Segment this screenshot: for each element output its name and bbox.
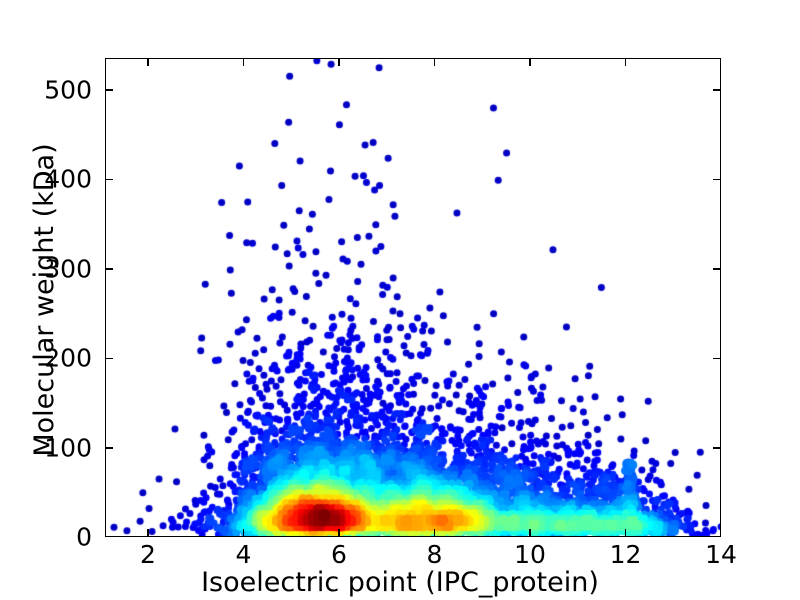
y-tick-300 [106, 268, 113, 270]
x-tick-4 [243, 529, 245, 536]
y-tick-label-400: 400 [44, 167, 92, 192]
x-tick-label-14: 14 [705, 542, 737, 567]
y-tick-right-200 [713, 358, 720, 360]
y-tick-100 [106, 447, 113, 449]
y-tick-label-300: 300 [44, 256, 92, 281]
x-tick-label-6: 6 [331, 542, 347, 567]
y-tick-right-400 [713, 179, 720, 181]
x-axis-label: Isoelectric point (IPC_protein) [0, 568, 800, 598]
y-tick-400 [106, 179, 113, 181]
scatter-points-canvas [106, 59, 721, 537]
x-tick-top-6 [338, 59, 340, 66]
plot-area [105, 58, 721, 537]
x-tick-top-4 [243, 59, 245, 66]
x-tick-top-2 [147, 59, 149, 66]
y-tick-right-500 [713, 89, 720, 91]
x-tick-top-8 [434, 59, 436, 66]
x-tick-10 [529, 529, 531, 536]
y-tick-label-100: 100 [44, 435, 92, 460]
x-tick-6 [338, 529, 340, 536]
x-tick-top-10 [529, 59, 531, 66]
y-tick-right-100 [713, 447, 720, 449]
x-tick-label-2: 2 [140, 542, 156, 567]
y-tick-200 [106, 358, 113, 360]
x-tick-top-12 [625, 59, 627, 66]
y-tick-500 [106, 89, 113, 91]
x-tick-label-10: 10 [514, 542, 546, 567]
y-tick-label-500: 500 [44, 78, 92, 103]
x-tick-8 [434, 529, 436, 536]
y-tick-label-200: 200 [44, 346, 92, 371]
scatter-plot-figure: Molecular weight (kDa) 0 100 200 300 400… [0, 0, 800, 600]
y-tick-0 [106, 536, 113, 537]
x-tick-12 [625, 529, 627, 536]
x-tick-label-8: 8 [427, 542, 443, 567]
x-tick-2 [147, 529, 149, 536]
y-tick-right-300 [713, 268, 720, 270]
y-tick-right-0 [713, 536, 720, 537]
x-tick-label-4: 4 [236, 542, 252, 567]
x-tick-label-12: 12 [610, 542, 642, 567]
y-tick-label-0: 0 [76, 525, 92, 550]
